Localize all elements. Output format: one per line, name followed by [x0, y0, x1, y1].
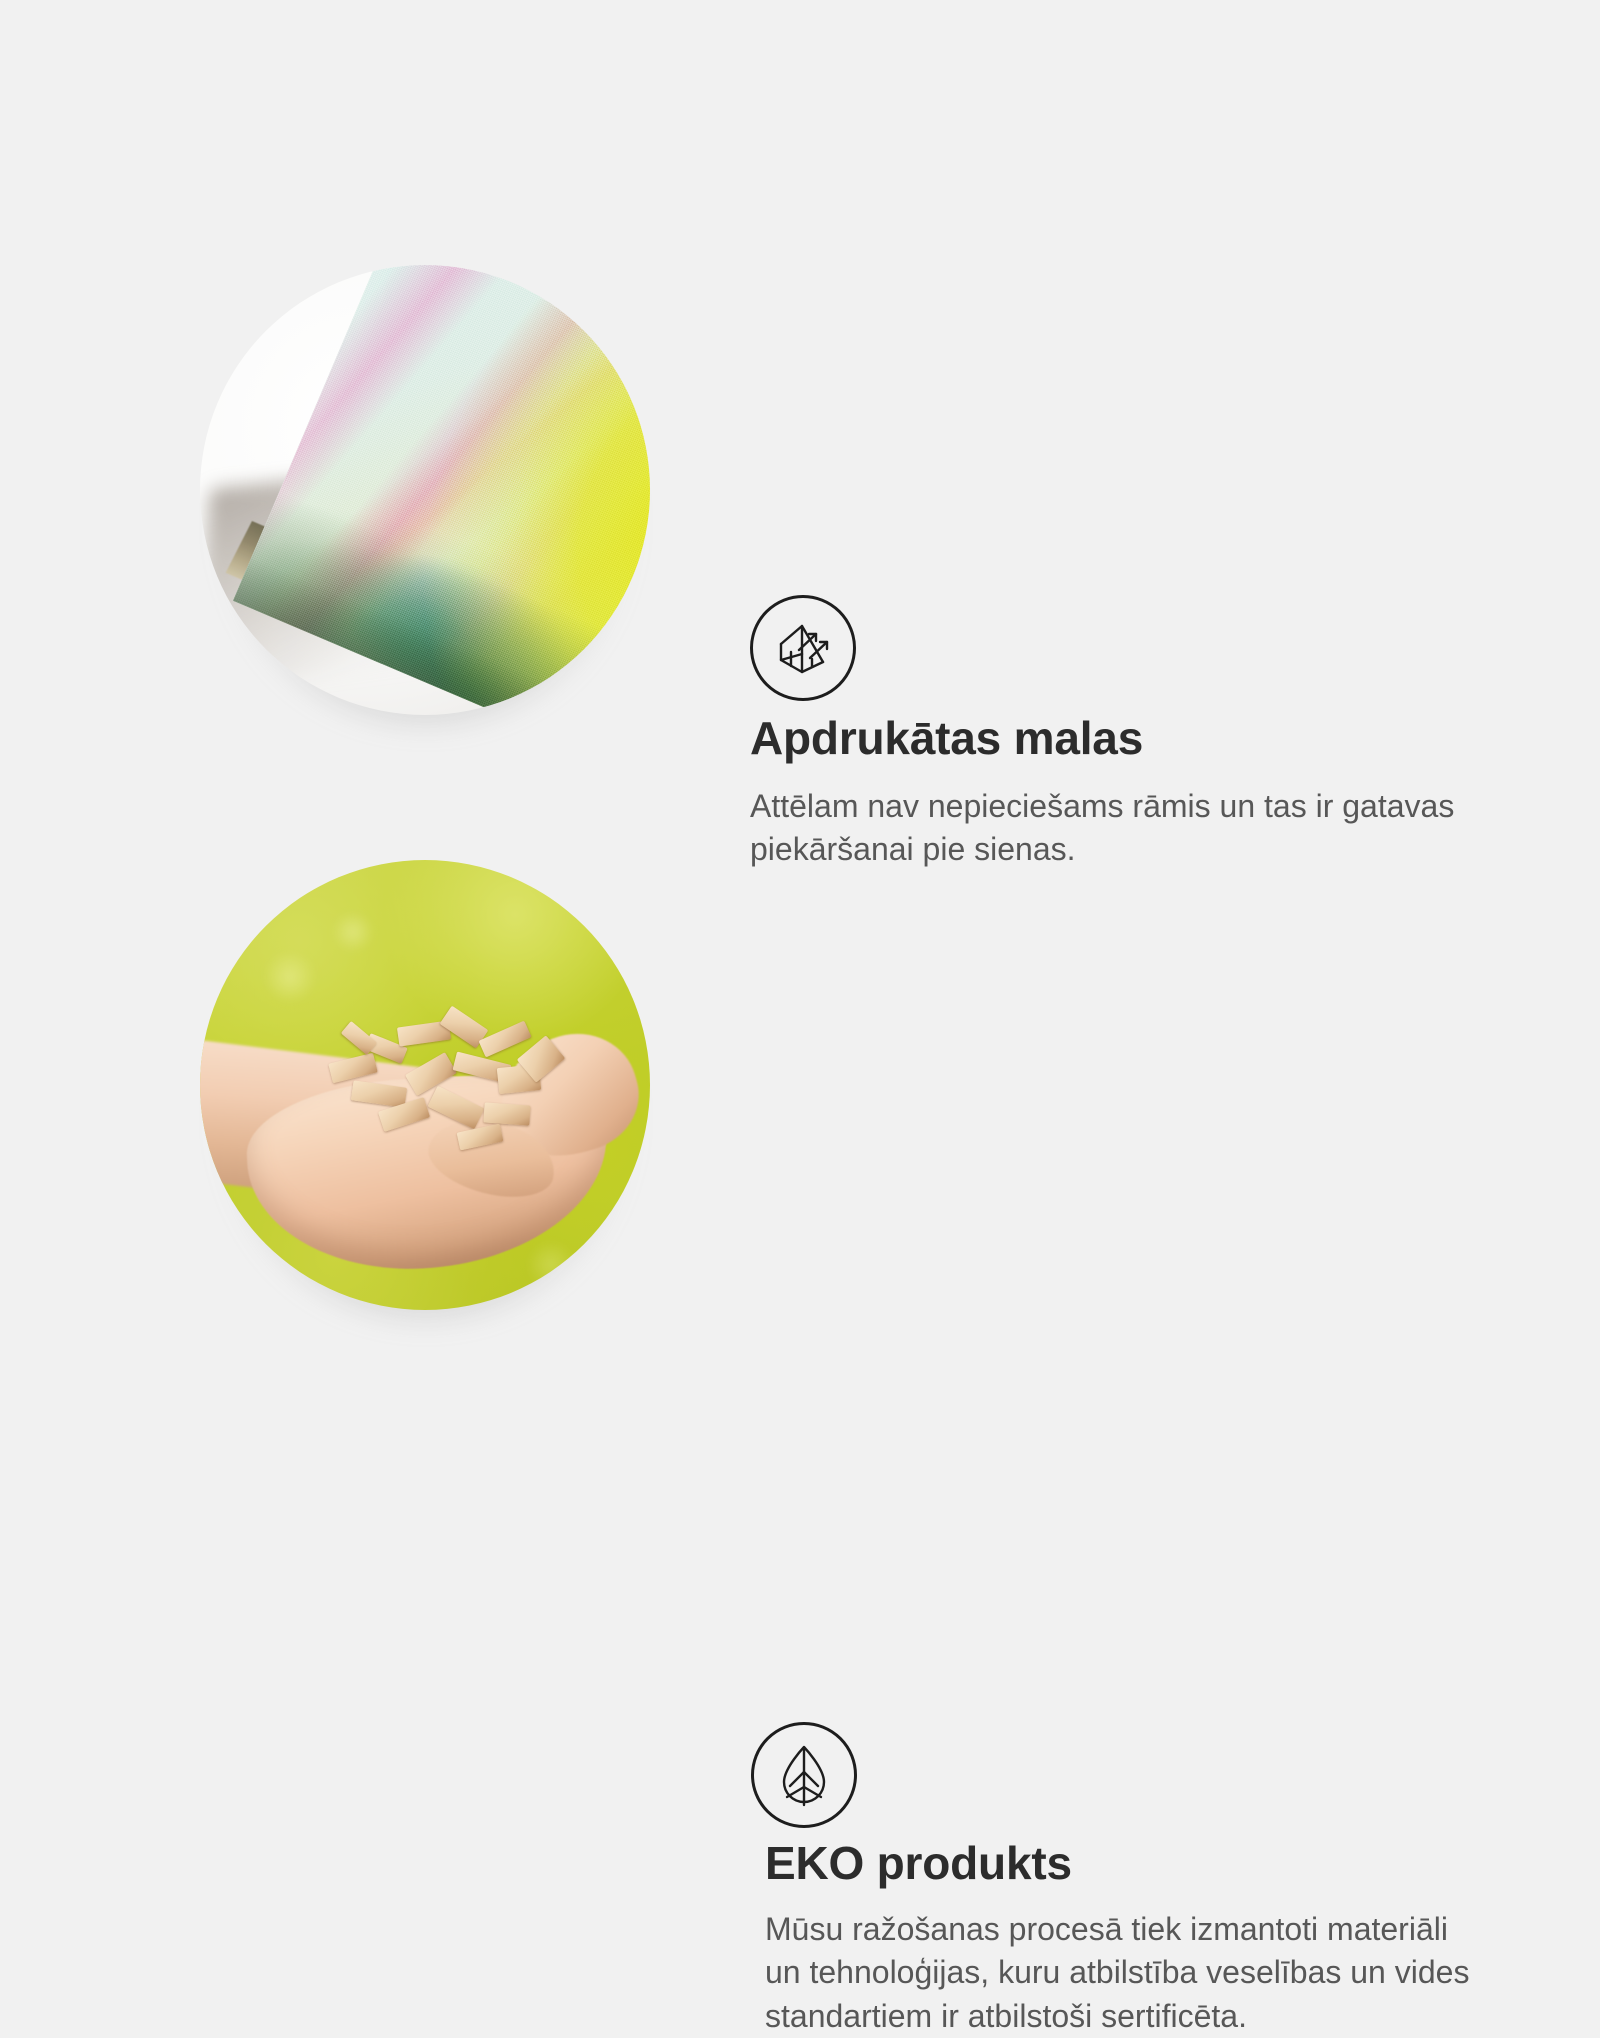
feature-title: EKO produkts: [765, 1840, 1505, 1888]
eco-product-text: EKO produkts Mūsu ražošanas procesā tiek…: [765, 1840, 1505, 2038]
photo-circle-mask: [200, 860, 650, 1310]
feature-page: Apdrukātas malas Attēlam nav nepieciešam…: [0, 0, 1600, 1600]
leaf-icon: [751, 1722, 857, 1828]
feature-printed-edges: Apdrukātas malas Attēlam nav nepieciešam…: [0, 250, 1600, 750]
wood-chips-in-hands-photo: [200, 860, 650, 1310]
photo-circle-mask: [200, 265, 650, 715]
feature-description: Mūsu ražošanas procesā tiek izmantoti ma…: [765, 1908, 1485, 2038]
canvas-corner-photo: [200, 265, 650, 715]
printed-edges-icon: [750, 595, 856, 701]
wood-chip-pile: [312, 1000, 572, 1150]
feature-eco-product: EKO produkts Mūsu ražošanas procesā tiek…: [0, 845, 1600, 1345]
feature-title: Apdrukātas malas: [750, 715, 1490, 763]
